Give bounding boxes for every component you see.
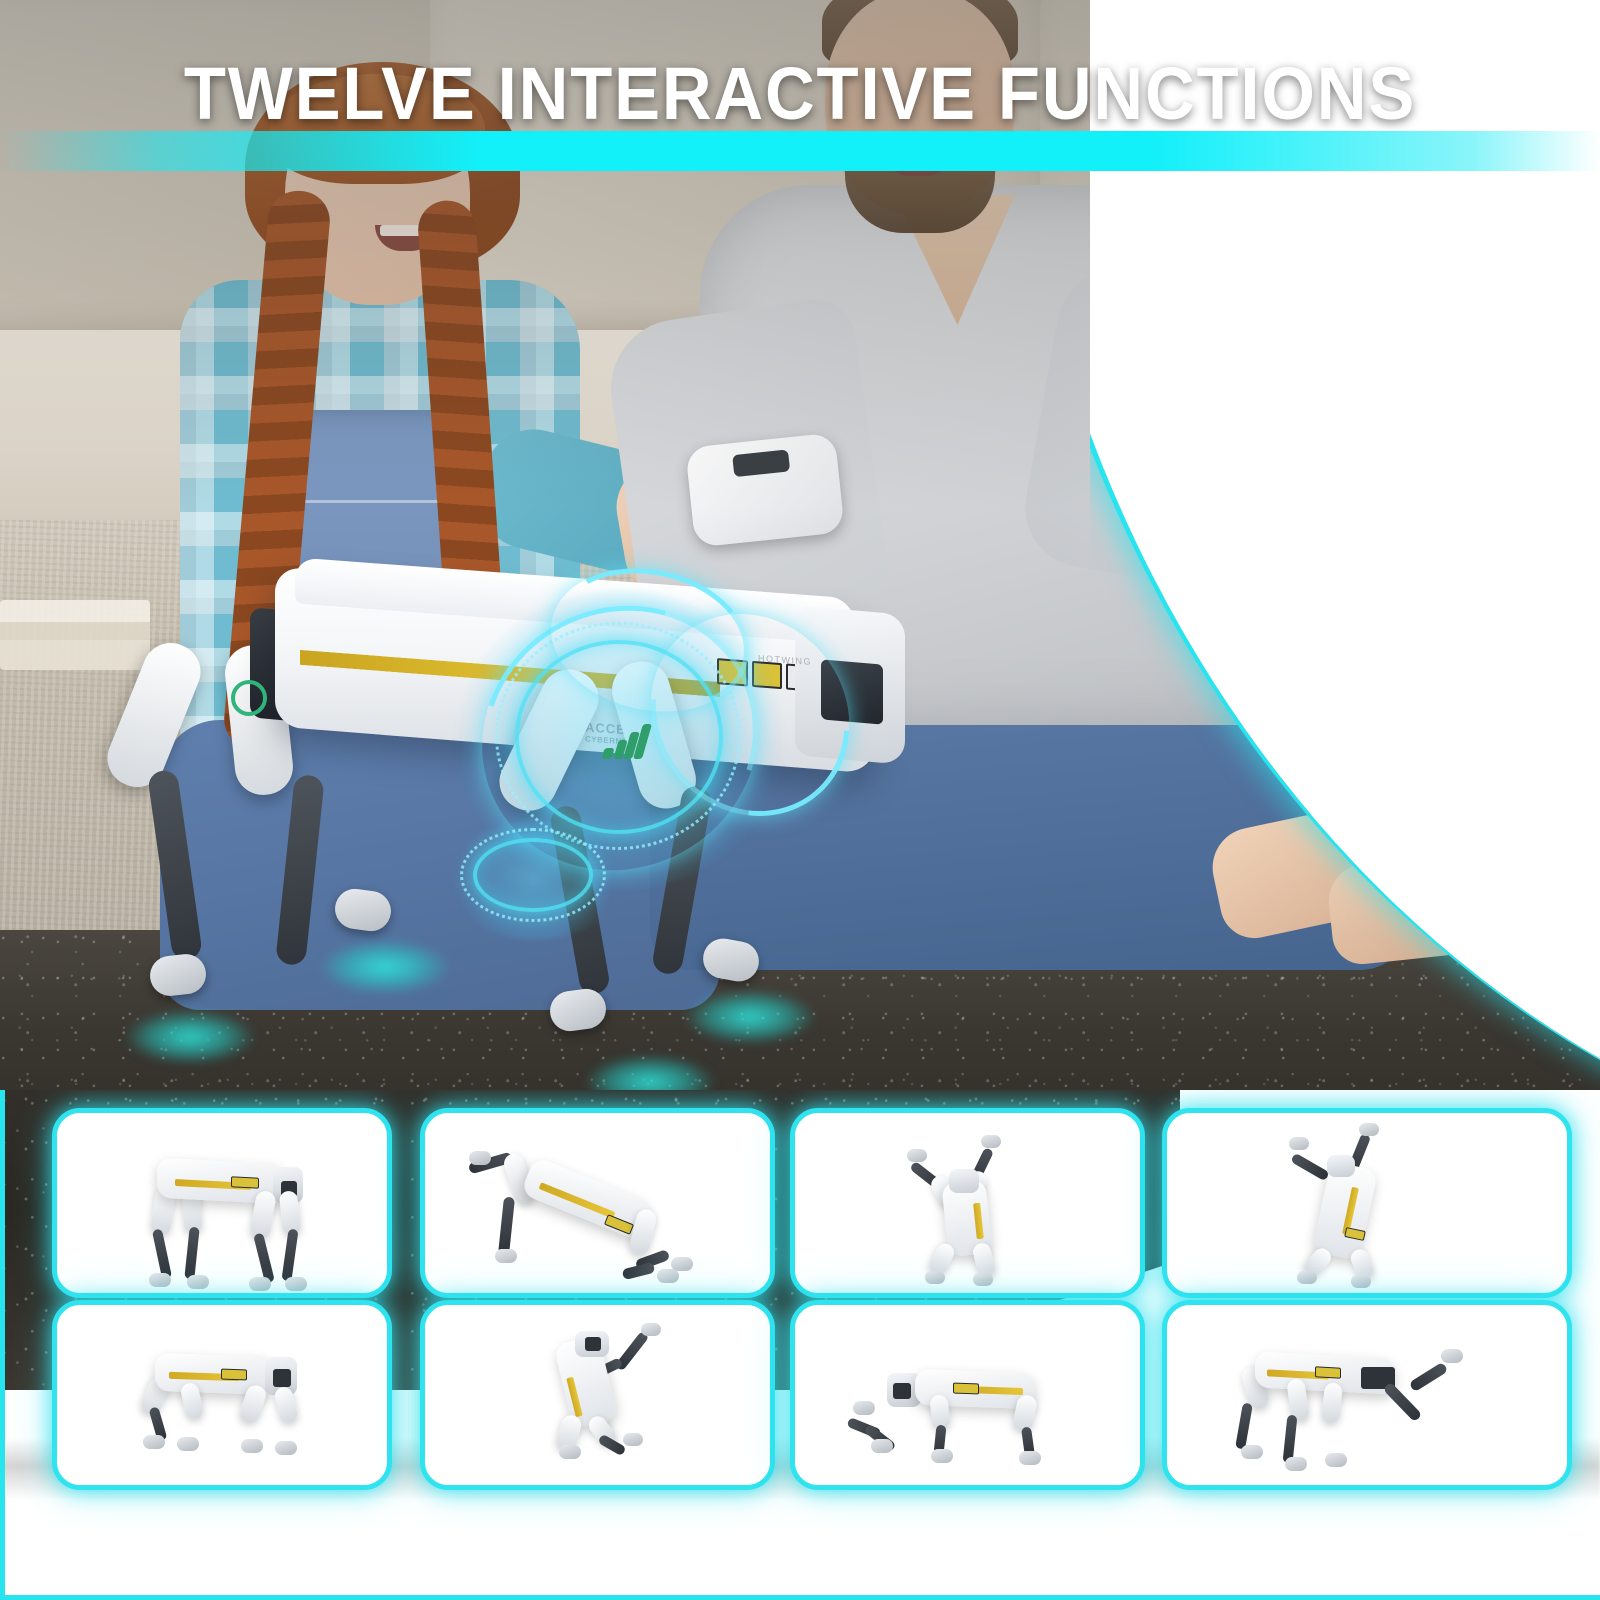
frame-border-bottom [0, 1595, 1600, 1600]
mini-robot-handstand [1287, 1125, 1437, 1285]
frame-border-left [0, 1090, 5, 1600]
function-card-2[interactable] [420, 1108, 775, 1298]
hud-foot-dotted-icon [460, 828, 606, 922]
mini-robot-stretch [465, 1131, 705, 1281]
foot-glow-2 [320, 940, 450, 994]
mini-robot-rear-up [905, 1131, 1045, 1281]
function-card-7[interactable] [790, 1300, 1145, 1490]
headline-accent-bar [0, 131, 1600, 171]
function-thumb-1 [57, 1113, 387, 1293]
function-card-4[interactable] [1162, 1108, 1572, 1298]
function-card-1[interactable] [52, 1108, 392, 1298]
mini-robot-crouch [125, 1341, 325, 1461]
function-card-3[interactable] [790, 1108, 1145, 1298]
mini-robot-lie-down [853, 1357, 1073, 1467]
function-thumb-7 [795, 1305, 1140, 1485]
function-thumb-5 [57, 1305, 387, 1485]
function-thumb-4 [1167, 1113, 1567, 1293]
function-card-5[interactable] [52, 1300, 392, 1490]
function-card-8[interactable] [1162, 1300, 1572, 1490]
robot-signal-icon [603, 722, 649, 760]
mini-robot-standing [135, 1143, 325, 1273]
page-title: TWELVE INTERACTIVE FUNCTIONS [56, 52, 1544, 136]
headline-block: TWELVE INTERACTIVE FUNCTIONS [0, 52, 1600, 182]
function-thumb-8 [1167, 1305, 1567, 1485]
mini-robot-leg-lift [1227, 1345, 1477, 1475]
robot-dog-hero: ACCBKHH CYBERNETICS HOTWING [95, 570, 895, 1090]
robot-power-led [231, 680, 267, 716]
foot-glow-1 [125, 1010, 255, 1064]
function-thumb-6 [425, 1305, 770, 1485]
function-card-6[interactable] [420, 1300, 775, 1490]
thumbnail-section [0, 1090, 1600, 1600]
mini-robot-dance [545, 1321, 705, 1471]
function-thumb-3 [795, 1113, 1140, 1293]
foot-glow-4 [685, 990, 815, 1044]
product-marketing-image: ACCBKHH CYBERNETICS HOTWING [0, 0, 1600, 1600]
function-thumb-2 [425, 1113, 770, 1293]
